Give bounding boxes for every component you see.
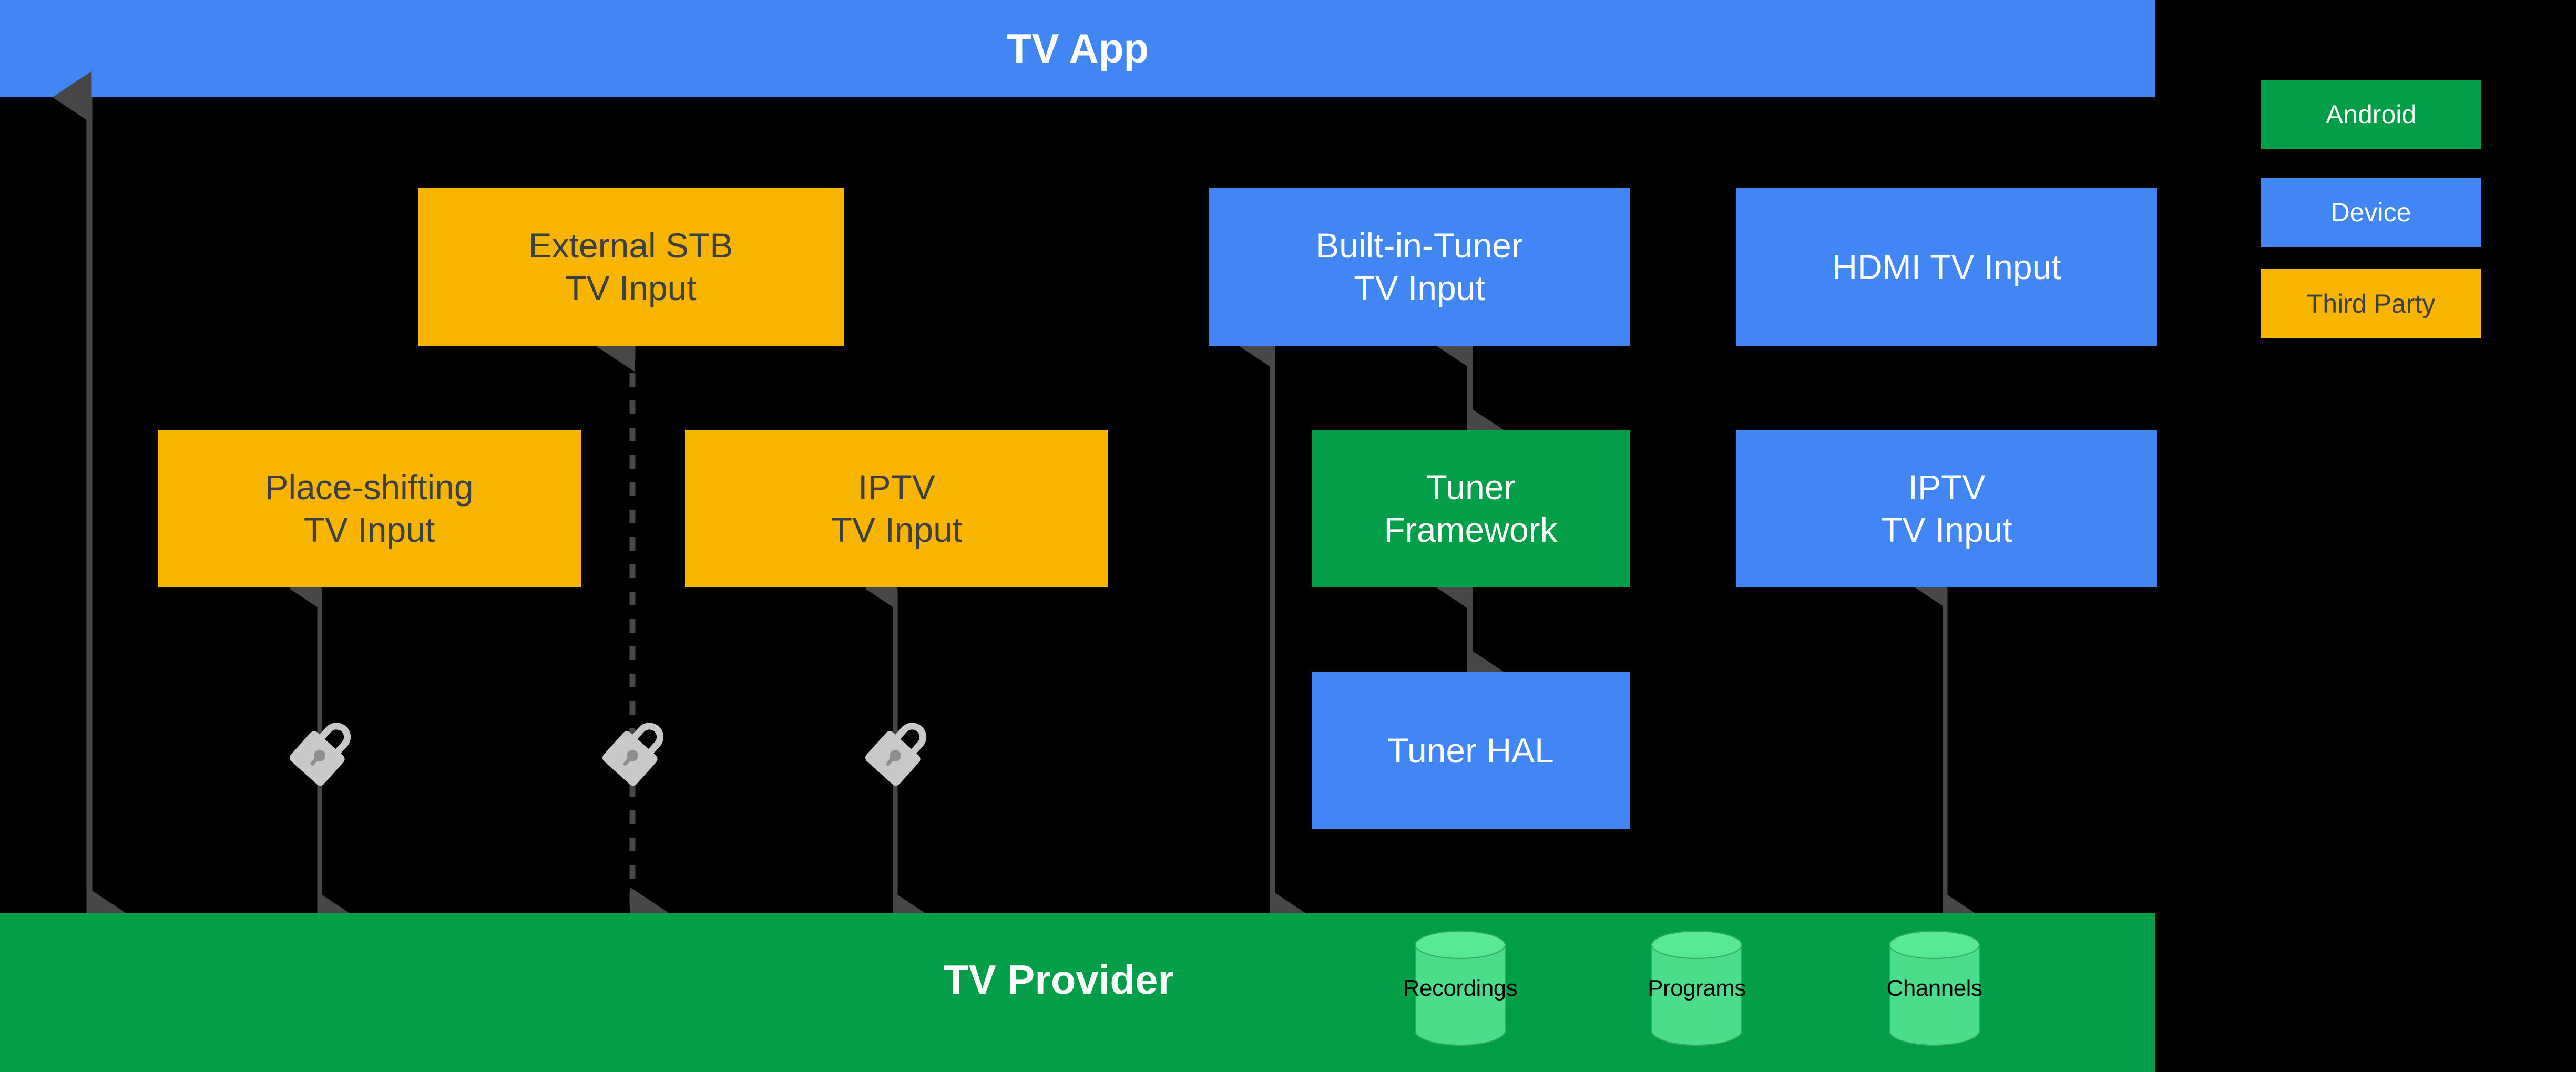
lock-icon (600, 712, 675, 788)
legend-item-device: Device (2261, 178, 2481, 247)
database-programs[interactable]: Programs (1651, 930, 1743, 1047)
legend-label: Third Party (2307, 288, 2436, 319)
database-channels[interactable]: Channels (1888, 930, 1980, 1047)
tv-provider-band: TV Provider (0, 913, 2155, 1072)
lock-icon (288, 712, 362, 788)
legend-label: Device (2331, 197, 2411, 228)
node-hdmi-tv-input[interactable]: HDMI TV Input (1736, 188, 2157, 346)
node-tuner-hal[interactable]: Tuner HAL (1312, 672, 1630, 829)
node-label: IPTV TV Input (831, 466, 962, 551)
node-external-stb-tv-input[interactable]: External STB TV Input (418, 188, 844, 346)
database-label: Programs (1648, 975, 1746, 1002)
legend-item-third-party: Third Party (2261, 269, 2481, 338)
database-label: Channels (1887, 975, 1982, 1002)
node-label: IPTV TV Input (1881, 466, 2012, 551)
lock-icon (863, 712, 938, 788)
diagram-canvas: TV App (0, 0, 2576, 1072)
node-label: Built-in-Tuner TV Input (1316, 224, 1523, 309)
legend-item-android: Android (2261, 80, 2481, 149)
tv-app-band: TV App (0, 0, 2155, 97)
node-label: Tuner Framework (1384, 466, 1557, 551)
legend-label: Android (2326, 99, 2416, 130)
database-label: Recordings (1403, 975, 1518, 1002)
node-built-in-tuner-tv-input[interactable]: Built-in-Tuner TV Input (1209, 188, 1630, 346)
node-iptv-tv-input-third-party[interactable]: IPTV TV Input (685, 430, 1108, 587)
tv-provider-label: TV Provider (944, 956, 1174, 1004)
node-label: HDMI TV Input (1832, 246, 2061, 288)
tv-app-label: TV App (1007, 25, 1149, 73)
node-label: Place-shifting TV Input (265, 466, 473, 551)
node-place-shifting-tv-input[interactable]: Place-shifting TV Input (158, 430, 581, 587)
node-tuner-framework[interactable]: Tuner Framework (1312, 430, 1630, 587)
database-recordings[interactable]: Recordings (1414, 930, 1506, 1047)
node-iptv-tv-input-device[interactable]: IPTV TV Input (1736, 430, 2157, 587)
node-label: Tuner HAL (1387, 729, 1554, 772)
node-label: External STB TV Input (529, 224, 733, 309)
